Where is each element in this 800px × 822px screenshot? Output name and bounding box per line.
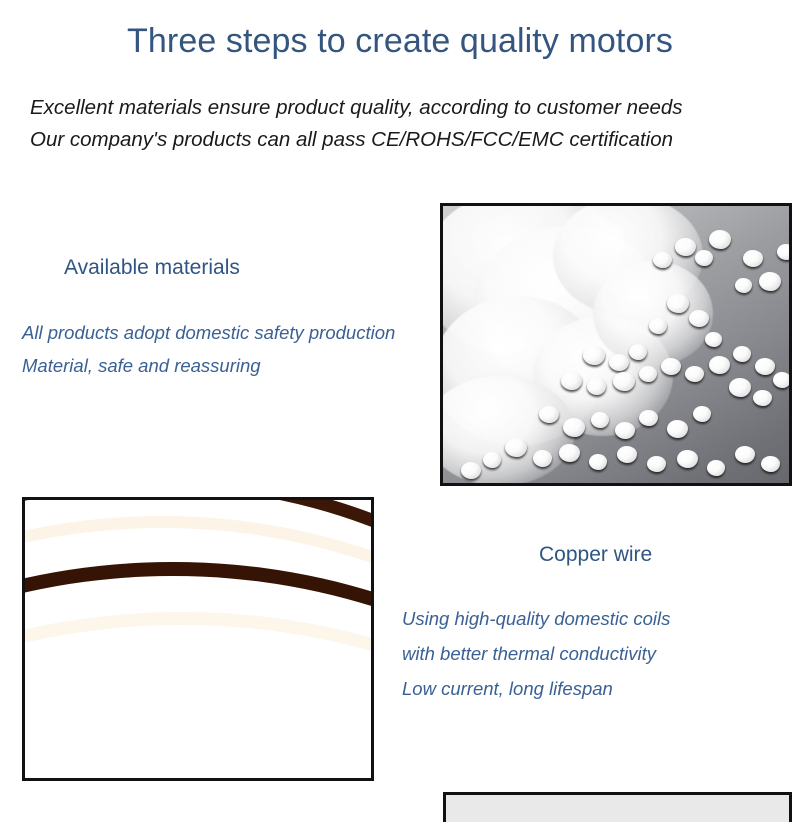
section-body-available-materials: All products adopt domestic safety produ… (22, 316, 432, 382)
infographic-page: Three steps to create quality motors Exc… (0, 0, 800, 800)
subtitle-line-2: Our company's products can all pass CE/R… (30, 124, 770, 156)
plastic-pellets-photo (440, 203, 792, 486)
copper-body-line-2: with better thermal conductivity (402, 636, 792, 671)
section-body-copper-wire: Using high-quality domestic coils with b… (402, 601, 792, 706)
copper-body-line-1: Using high-quality domestic coils (402, 601, 792, 636)
materials-body-line-1: All products adopt domestic safety produ… (22, 316, 432, 349)
copper-wire-image (25, 500, 371, 778)
subtitle-block: Excellent materials ensure product quali… (30, 92, 770, 156)
materials-body-line-2: Material, safe and reassuring (22, 349, 432, 382)
third-photo-partial (443, 792, 792, 822)
section-title-copper-wire: Copper wire (539, 541, 652, 569)
subtitle-line-1: Excellent materials ensure product quali… (30, 92, 770, 124)
page-title: Three steps to create quality motors (0, 20, 800, 62)
section-title-available-materials: Available materials (64, 254, 240, 282)
copper-body-line-3: Low current, long lifespan (402, 671, 792, 706)
plastic-pellets-image (443, 206, 789, 483)
copper-wire-photo (22, 497, 374, 781)
